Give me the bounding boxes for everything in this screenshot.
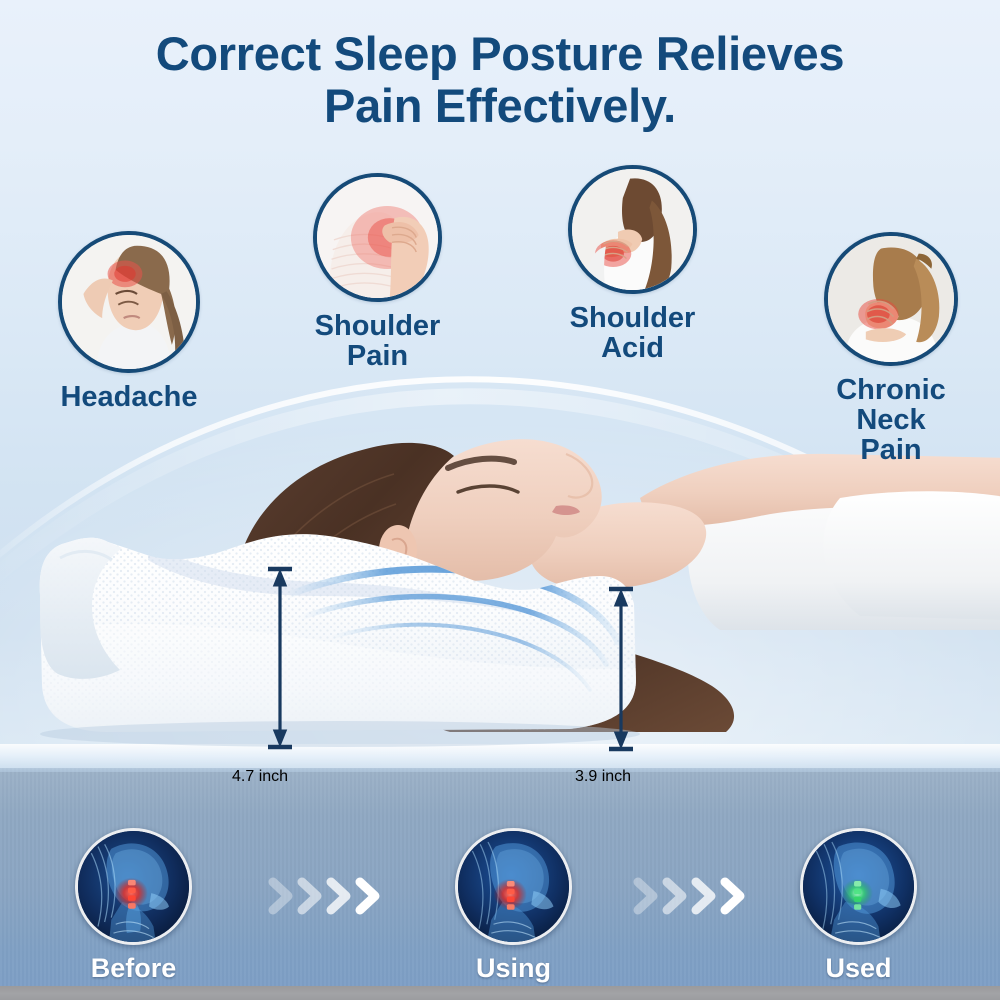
infographic-canvas: Correct Sleep Posture Relieves Pain Effe… <box>0 0 1000 1000</box>
title-line-2: Pain Effectively. <box>0 80 1000 132</box>
chevron-right-icon <box>633 876 659 916</box>
chevron-right-icon <box>268 876 294 916</box>
symptom-label: Shoulder Acid <box>568 303 697 363</box>
step-label: Using <box>455 953 572 984</box>
used-xray-image <box>800 828 917 945</box>
chevron-right-icon <box>326 876 352 916</box>
title-line-1: Correct Sleep Posture Relieves <box>156 27 844 80</box>
chevron-right-icon <box>355 876 381 916</box>
step-used[interactable]: Used <box>800 828 917 984</box>
step-before[interactable]: Before <box>75 828 192 984</box>
dimension-right-label: 3.9 inch <box>575 768 631 786</box>
symptom-headache[interactable]: Headache <box>58 231 200 412</box>
symptom-label: Shoulder Pain <box>313 311 442 371</box>
shoulder-pain-photo <box>313 173 442 302</box>
chevron-right-icon <box>297 876 323 916</box>
step-using[interactable]: Using <box>455 828 572 984</box>
symptom-shoulder-pain[interactable]: Shoulder Pain <box>313 173 442 371</box>
step-label: Before <box>75 953 192 984</box>
shoulder-acid-photo <box>568 165 697 294</box>
arrows-using-to-used <box>633 876 746 916</box>
symptom-label: Chronic Neck Pain <box>824 375 958 465</box>
symptom-label: Headache <box>58 382 200 412</box>
symptom-chronic-neck-pain[interactable]: Chronic Neck Pain <box>824 232 958 465</box>
arrows-before-to-using <box>268 876 381 916</box>
headache-photo <box>58 231 200 373</box>
dimension-left-label: 4.7 inch <box>232 768 288 786</box>
chevron-right-icon <box>691 876 717 916</box>
footer-strip <box>0 986 1000 1000</box>
using-xray-image <box>455 828 572 945</box>
step-label: Used <box>800 953 917 984</box>
before-xray-image <box>75 828 192 945</box>
page-title: Correct Sleep Posture Relieves Pain Effe… <box>0 28 1000 131</box>
dimension-left-height <box>258 558 302 758</box>
chronic-neck-pain-photo <box>824 232 958 366</box>
dimension-right-height <box>599 578 643 760</box>
symptom-shoulder-acid[interactable]: Shoulder Acid <box>568 165 697 363</box>
chevron-right-icon <box>720 876 746 916</box>
chevron-right-icon <box>662 876 688 916</box>
